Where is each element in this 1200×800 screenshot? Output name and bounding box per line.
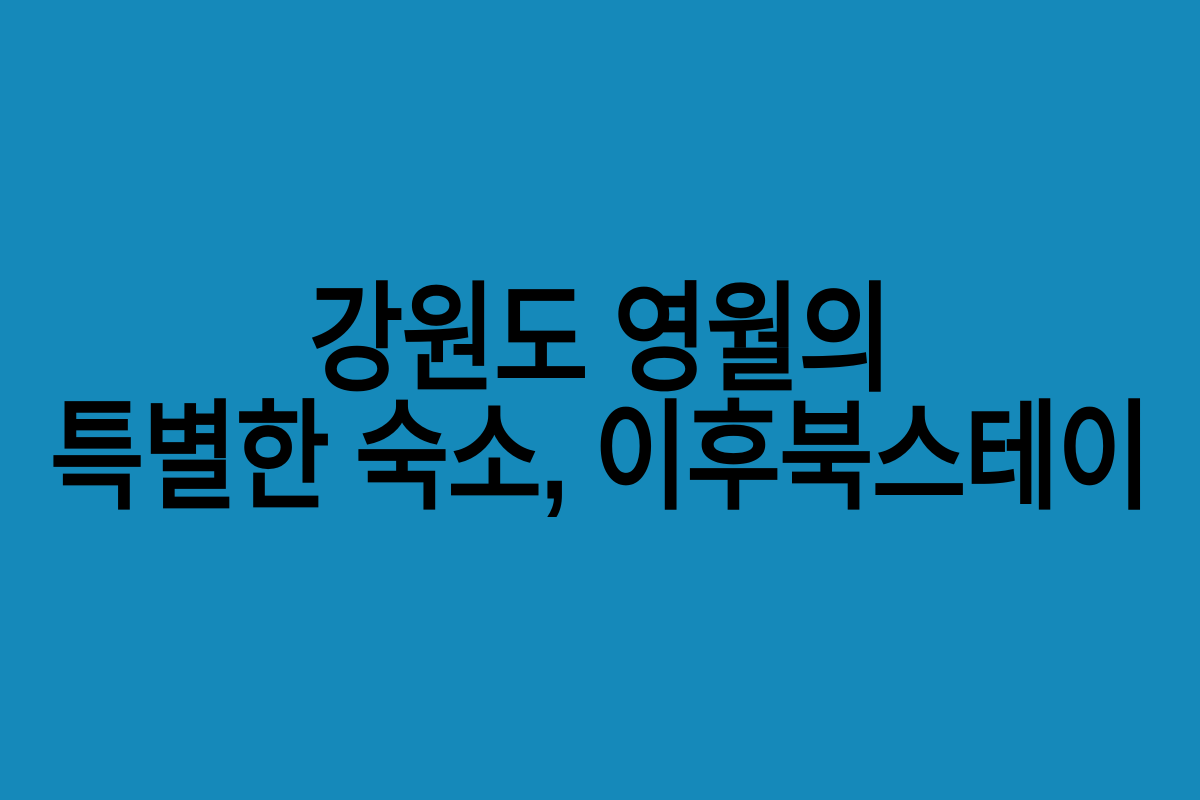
headline-line-1: 강원도 영월의 [50,277,1149,402]
banner-canvas: 강원도 영월의 특별한 숙소, 이후북스테이 [0,0,1200,800]
headline-line-2: 특별한 숙소, 이후북스테이 [49,395,1150,520]
headline-block: 강원도 영월의 특별한 숙소, 이후북스테이 [0,281,1200,517]
